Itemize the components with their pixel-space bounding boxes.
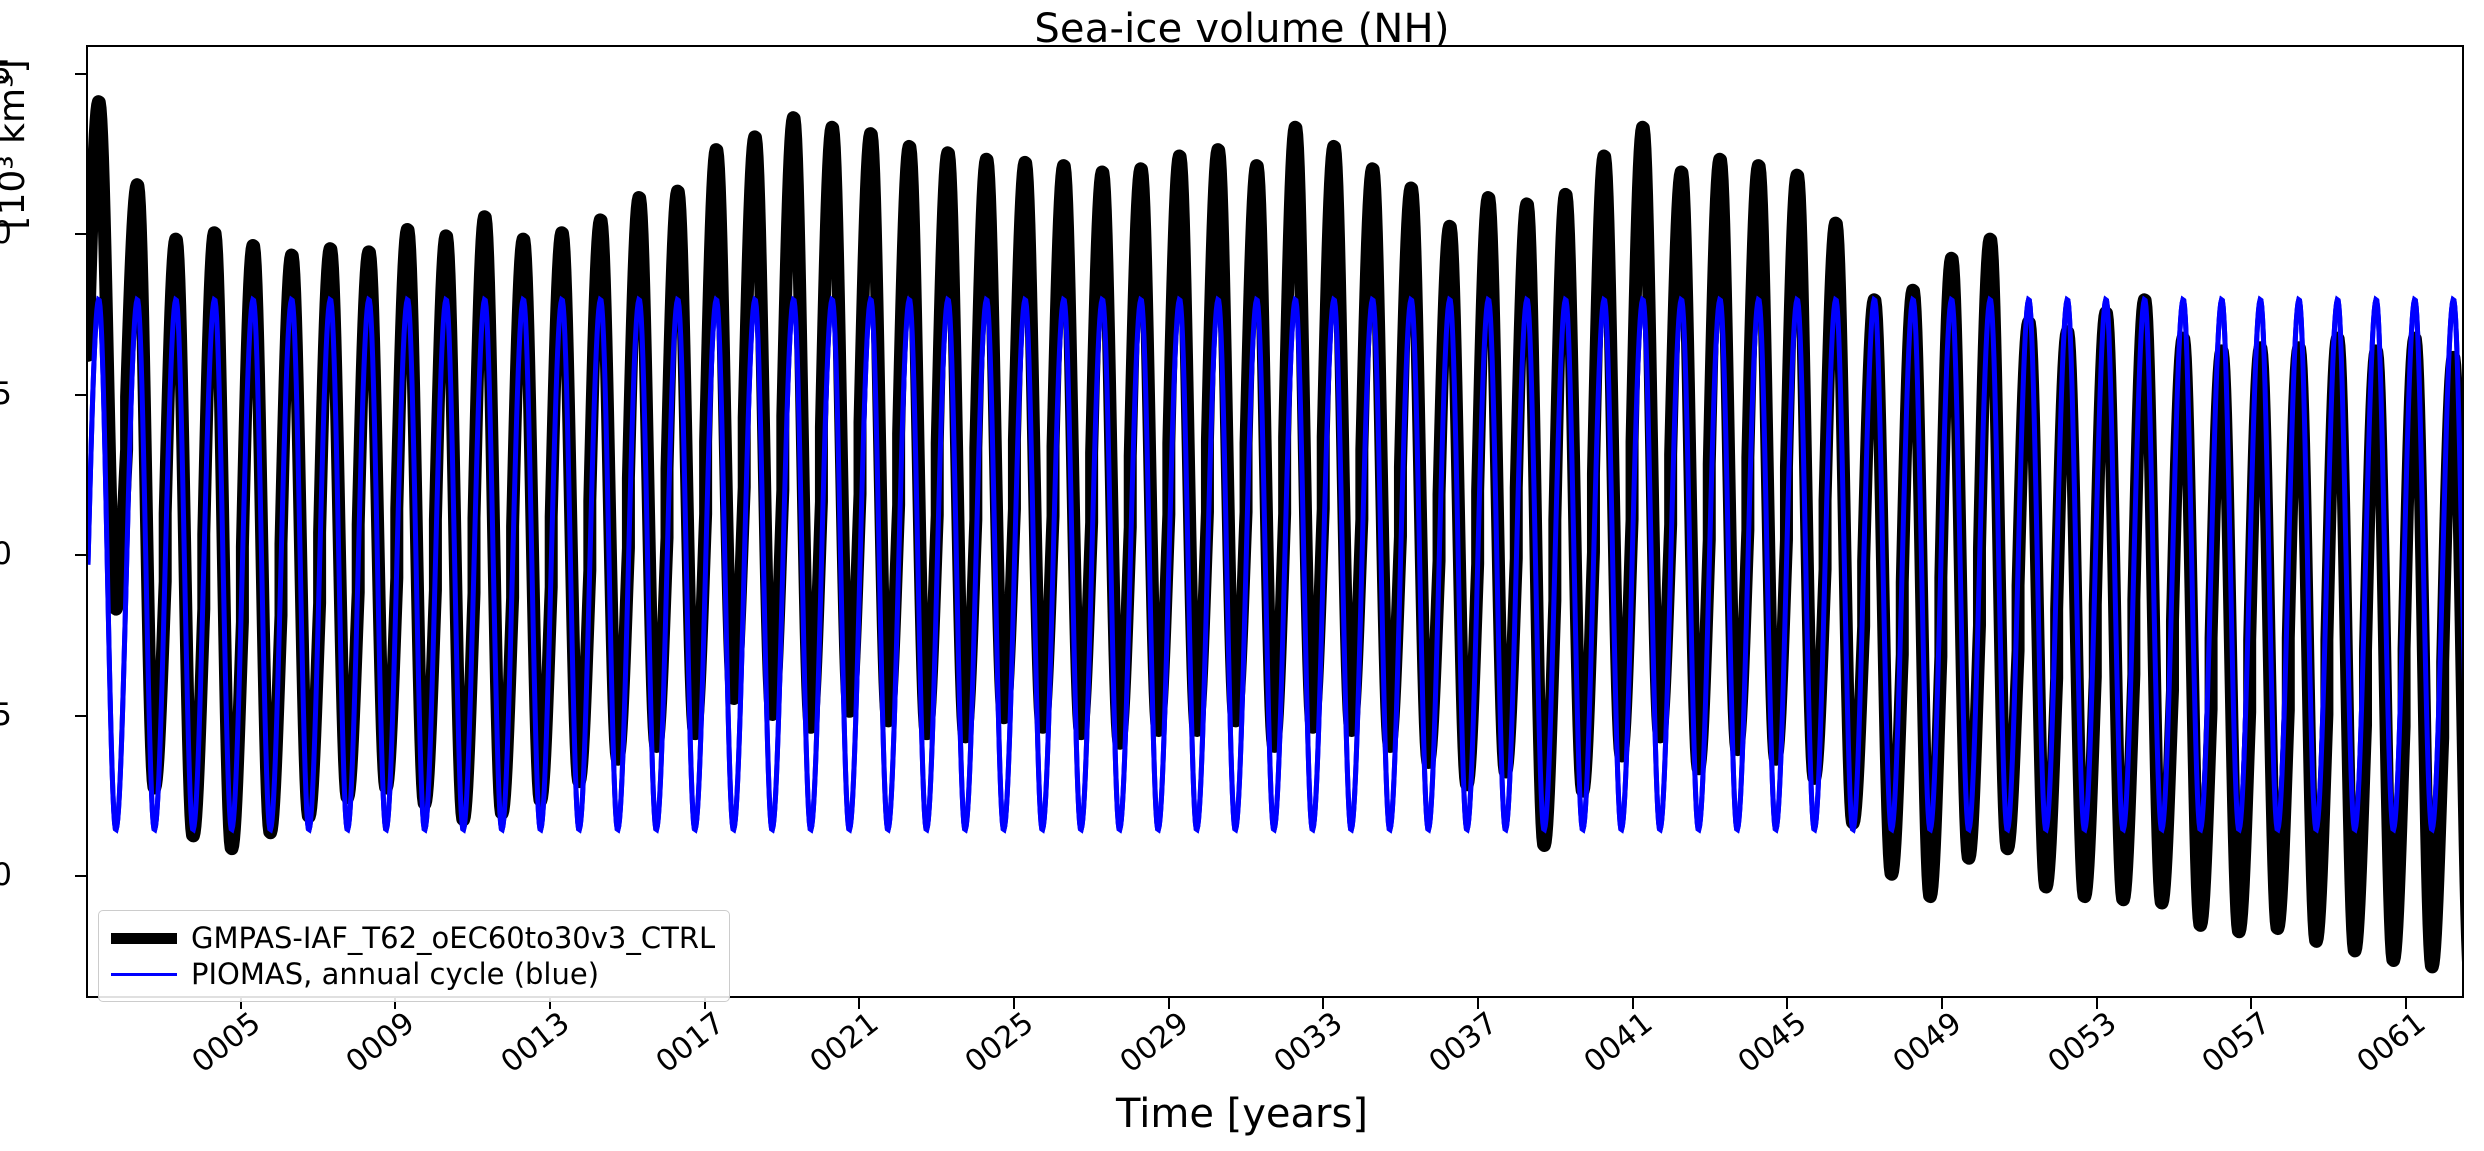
x-tick-label: 0053 <box>2033 1007 2122 1086</box>
legend-swatch-piomas-line <box>111 973 177 976</box>
x-tick-label: 0037 <box>1415 1007 1504 1086</box>
x-tick-label: 0005 <box>177 1007 266 1086</box>
y-tick-label: 20 <box>0 539 12 570</box>
model-series-line <box>88 102 2462 983</box>
x-tick-label: 0029 <box>1105 1007 1194 1086</box>
x-tick-label: 0049 <box>1879 1007 1968 1086</box>
y-tick-mark <box>75 233 86 235</box>
x-tick-label: 0045 <box>1724 1007 1813 1086</box>
x-tick-label: 0013 <box>487 1007 576 1086</box>
x-tick-label: 0025 <box>951 1007 1040 1086</box>
y-tick-label: 15 <box>0 700 12 731</box>
plot-area <box>86 45 2464 998</box>
x-tick-label: 0033 <box>1260 1007 1349 1086</box>
y-tick-label: 35 <box>0 58 12 89</box>
y-axis-label: [10³ km³] <box>0 0 32 720</box>
legend-item-piomas: PIOMAS, annual cycle (blue) <box>111 956 715 992</box>
y-tick-label: 25 <box>0 379 12 410</box>
x-tick-label: 0041 <box>1569 1007 1658 1086</box>
x-tick-label: 0017 <box>641 1007 730 1086</box>
y-tick-mark <box>75 715 86 717</box>
y-tick-label: 30 <box>0 218 12 249</box>
x-tick-label: 0021 <box>796 1007 885 1086</box>
y-tick-mark <box>75 875 86 877</box>
y-tick-mark <box>75 394 86 396</box>
chart-legend: GMPAS-IAF_T62_oEC60to30v3_CTRL PIOMAS, a… <box>98 910 730 1002</box>
legend-item-model: GMPAS-IAF_T62_oEC60to30v3_CTRL <box>111 920 715 956</box>
y-tick-mark <box>75 73 86 75</box>
x-tick-label: 0057 <box>2188 1007 2277 1086</box>
chart-figure: Sea-ice volume (NH) [10³ km³] 1015202530… <box>0 0 2484 1151</box>
y-tick-mark <box>75 554 86 556</box>
x-tick-label: 0009 <box>332 1007 421 1086</box>
legend-swatch-model-line <box>111 933 177 944</box>
plot-canvas <box>88 47 2462 996</box>
legend-label-model: GMPAS-IAF_T62_oEC60to30v3_CTRL <box>191 924 715 953</box>
x-tick-label: 0061 <box>2343 1007 2432 1086</box>
legend-label-piomas: PIOMAS, annual cycle (blue) <box>191 960 599 989</box>
x-axis-label: Time [years] <box>0 1091 2484 1137</box>
y-tick-label: 10 <box>0 860 12 891</box>
